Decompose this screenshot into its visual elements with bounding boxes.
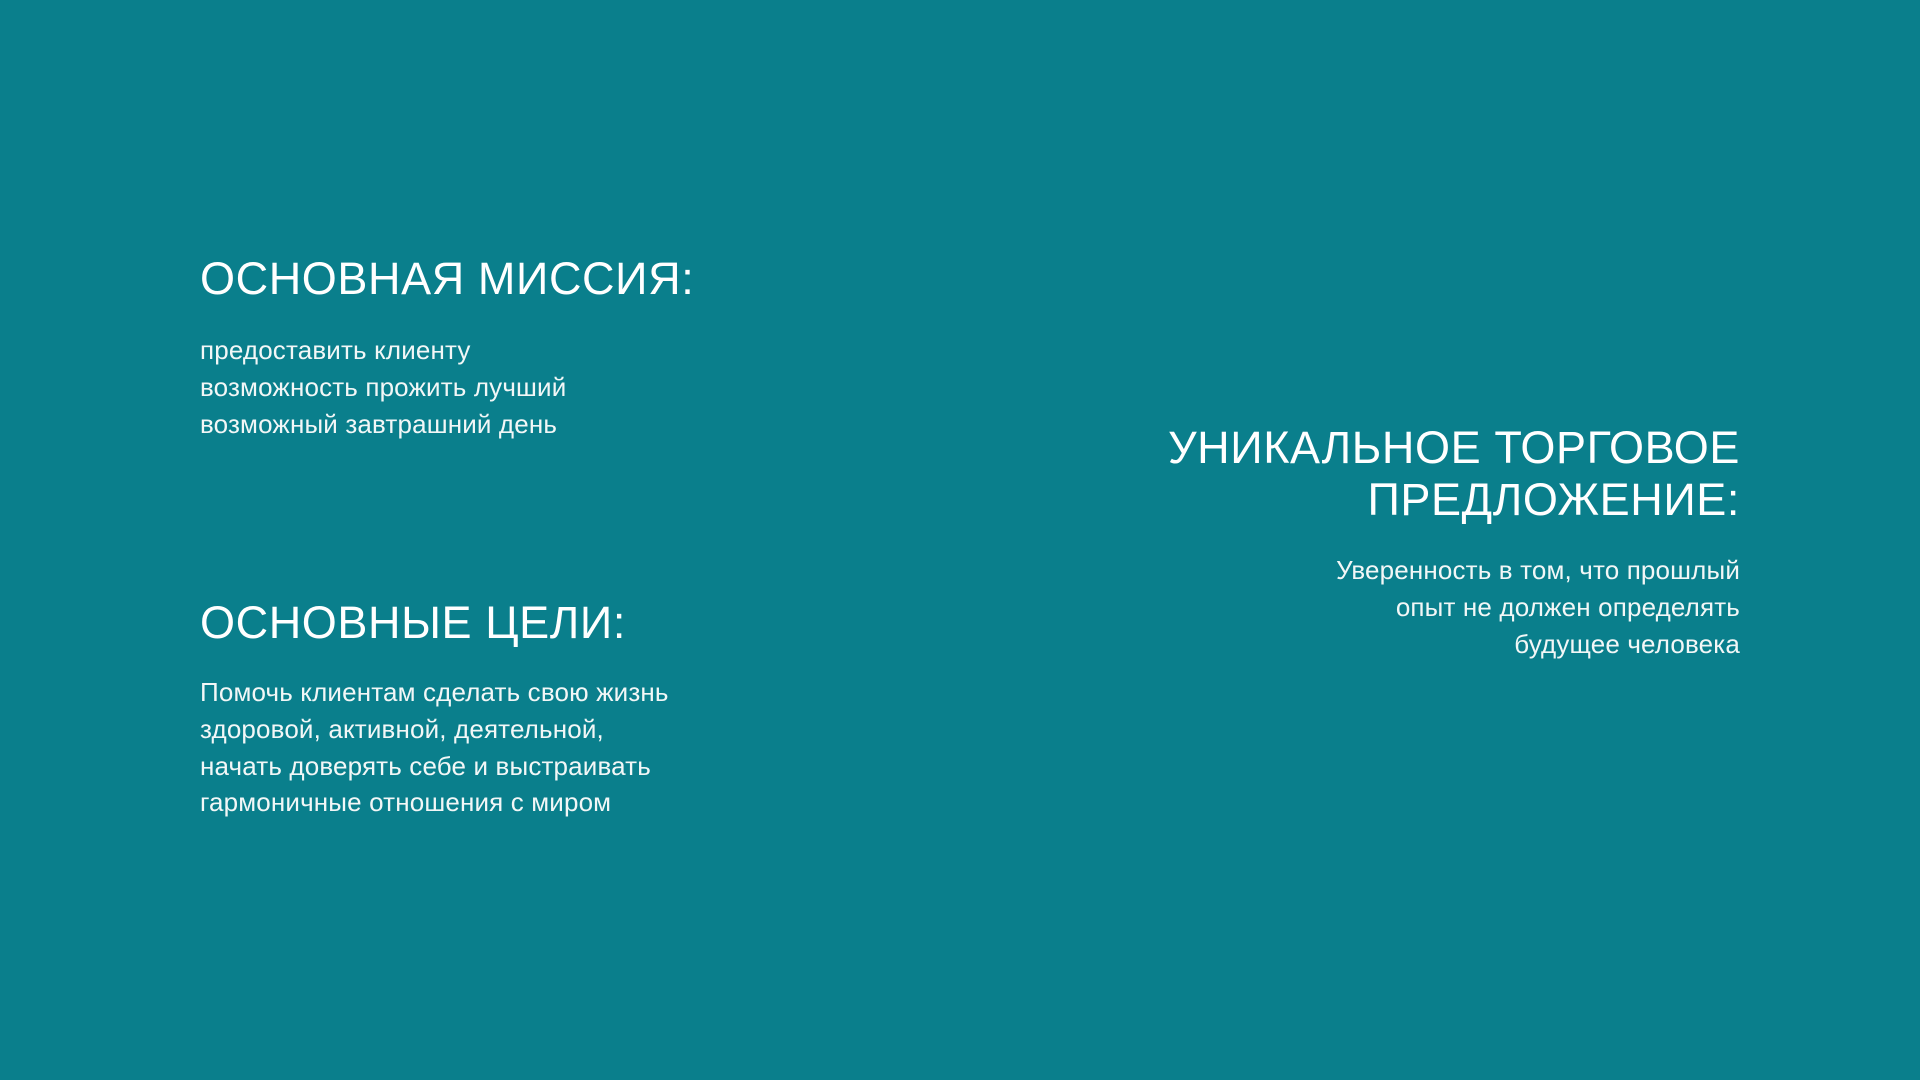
- usp-heading: УНИКАЛЬНОЕ ТОРГОВОЕ ПРЕДЛОЖЕНИЕ:: [1040, 422, 1740, 526]
- goals-heading: ОСНОВНЫЕ ЦЕЛИ:: [200, 597, 840, 649]
- mission-heading: ОСНОВНАЯ МИССИЯ:: [200, 253, 820, 305]
- mission-block: ОСНОВНАЯ МИССИЯ: предоставить клиенту во…: [200, 253, 820, 442]
- usp-block: УНИКАЛЬНОЕ ТОРГОВОЕ ПРЕДЛОЖЕНИЕ: Уверенн…: [1040, 422, 1740, 662]
- mission-body: предоставить клиенту возможность прожить…: [200, 332, 820, 442]
- slide-canvas: ОСНОВНАЯ МИССИЯ: предоставить клиенту во…: [0, 0, 1920, 1080]
- goals-body: Помочь клиентам сделать свою жизнь здоро…: [200, 674, 840, 821]
- goals-block: ОСНОВНЫЕ ЦЕЛИ: Помочь клиентам сделать с…: [200, 597, 840, 821]
- usp-body: Уверенность в том, что прошлый опыт не д…: [1040, 552, 1740, 662]
